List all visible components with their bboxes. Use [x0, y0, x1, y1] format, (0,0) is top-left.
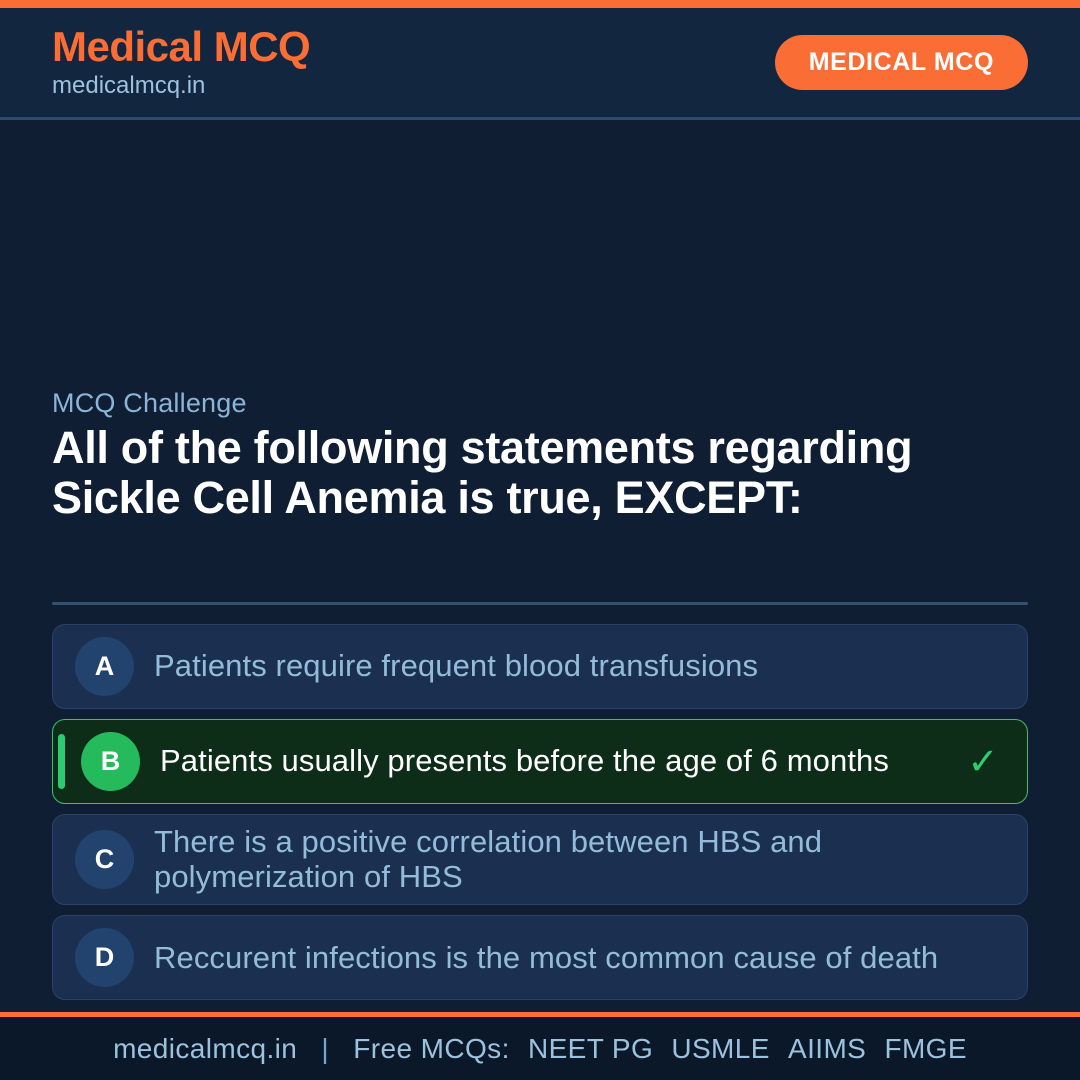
header-badge: MEDICAL MCQ: [775, 35, 1028, 90]
option-a-text: Patients require frequent blood transfus…: [154, 649, 961, 684]
footer-site: medicalmcq.in: [113, 1033, 297, 1064]
top-accent-bar: [0, 0, 1080, 8]
option-a[interactable]: A Patients require frequent blood transf…: [52, 624, 1028, 709]
option-c[interactable]: C There is a positive correlation betwee…: [52, 814, 1028, 905]
footer-tag-neet-pg: NEET PG: [518, 1033, 653, 1064]
option-d-text: Reccurent infections is the most common …: [154, 941, 961, 976]
header: Medical MCQ medicalmcq.in MEDICAL MCQ: [0, 8, 1080, 120]
brand-block: Medical MCQ medicalmcq.in: [52, 25, 310, 99]
check-icon: ✓: [961, 740, 1005, 783]
brand-title: Medical MCQ: [52, 25, 310, 69]
question-text: All of the following statements regardin…: [52, 423, 952, 524]
main-content: MCQ Challenge All of the following state…: [0, 120, 1080, 1012]
correct-accent-bar: [58, 734, 65, 789]
footer-text: medicalmcq.in | Free MCQs: NEET PG USMLE…: [113, 1033, 967, 1065]
footer-label: Free MCQs:: [353, 1033, 509, 1064]
footer: medicalmcq.in | Free MCQs: NEET PG USMLE…: [0, 1012, 1080, 1080]
option-d-letter: D: [75, 928, 134, 987]
brand-subtitle: medicalmcq.in: [52, 72, 310, 100]
option-b-text: Patients usually presents before the age…: [160, 744, 961, 779]
footer-tag-fmge: FMGE: [874, 1033, 966, 1064]
footer-tag-aiims: AIIMS: [778, 1033, 866, 1064]
question-label: MCQ Challenge: [52, 388, 247, 419]
footer-tag-usmle: USMLE: [661, 1033, 769, 1064]
option-b[interactable]: B Patients usually presents before the a…: [52, 719, 1028, 804]
option-c-text: There is a positive correlation between …: [154, 825, 961, 894]
mcq-card: Medical MCQ medicalmcq.in MEDICAL MCQ MC…: [0, 0, 1080, 1080]
question-divider: [52, 602, 1028, 605]
option-b-letter: B: [81, 732, 140, 791]
footer-separator: |: [305, 1033, 345, 1064]
options-list: A Patients require frequent blood transf…: [52, 624, 1028, 1000]
option-a-letter: A: [75, 637, 134, 696]
option-c-letter: C: [75, 830, 134, 889]
option-d[interactable]: D Reccurent infections is the most commo…: [52, 915, 1028, 1000]
